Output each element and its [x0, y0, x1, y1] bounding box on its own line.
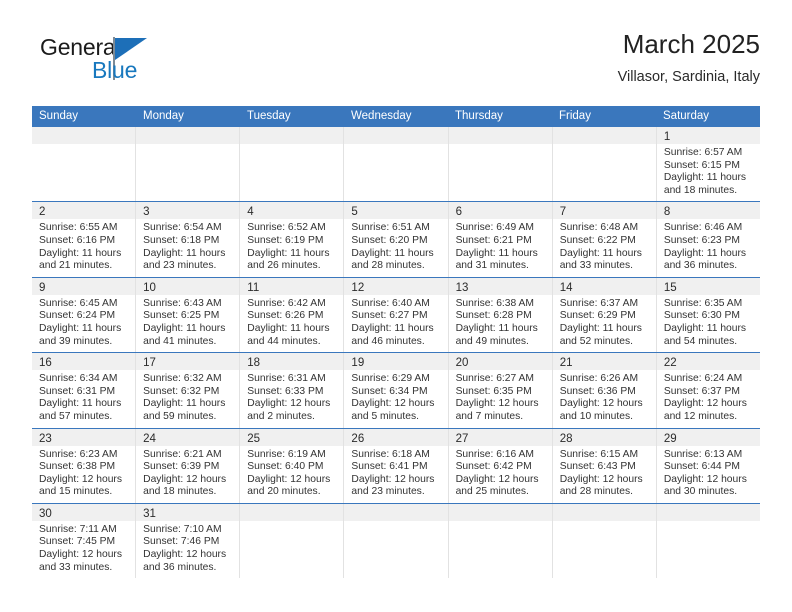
- day-detail-line: Sunset: 6:32 PM: [143, 386, 235, 399]
- day-number: 30: [39, 508, 52, 520]
- day-detail-line: and 26 minutes.: [247, 260, 339, 273]
- day-detail-line: Daylight: 12 hours: [247, 474, 339, 487]
- day-detail-line: Sunrise: 6:40 AM: [351, 298, 443, 311]
- day-detail-line: and 39 minutes.: [39, 336, 131, 349]
- calendar-day-cell[interactable]: 6Sunrise: 6:49 AMSunset: 6:21 PMDaylight…: [449, 202, 553, 276]
- day-detail-line: Sunrise: 7:10 AM: [143, 524, 235, 537]
- day-number-band: [657, 504, 760, 521]
- day-number: 12: [351, 282, 364, 294]
- calendar-day-cell[interactable]: 22Sunrise: 6:24 AMSunset: 6:37 PMDayligh…: [657, 353, 760, 427]
- calendar-day-cell[interactable]: 27Sunrise: 6:16 AMSunset: 6:42 PMDayligh…: [449, 429, 553, 503]
- day-number: 20: [456, 357, 469, 369]
- day-detail-line: Sunrise: 6:34 AM: [39, 373, 131, 386]
- day-details: Sunrise: 6:24 AMSunset: 6:37 PMDaylight:…: [657, 370, 760, 427]
- calendar-cell-empty: [344, 504, 448, 578]
- calendar-week-row: 2Sunrise: 6:55 AMSunset: 6:16 PMDaylight…: [32, 202, 760, 277]
- day-number: 6: [456, 206, 462, 218]
- day-detail-line: Sunrise: 6:48 AM: [560, 222, 652, 235]
- day-number: 22: [664, 357, 677, 369]
- day-detail-line: Sunrise: 6:27 AM: [456, 373, 548, 386]
- calendar-day-cell[interactable]: 14Sunrise: 6:37 AMSunset: 6:29 PMDayligh…: [553, 278, 657, 352]
- day-number-band: 13: [449, 278, 552, 295]
- day-number: 19: [351, 357, 364, 369]
- day-detail-line: Daylight: 11 hours: [39, 323, 131, 336]
- day-details: Sunrise: 6:19 AMSunset: 6:40 PMDaylight:…: [240, 446, 343, 503]
- day-detail-line: Sunset: 6:34 PM: [351, 386, 443, 399]
- day-detail-line: and 33 minutes.: [39, 562, 131, 575]
- day-detail-line: Sunset: 6:43 PM: [560, 461, 652, 474]
- calendar-cell-empty: [553, 127, 657, 201]
- day-number-band: 22: [657, 353, 760, 370]
- day-details: Sunrise: 6:55 AMSunset: 6:16 PMDaylight:…: [32, 219, 135, 276]
- day-detail-line: and 57 minutes.: [39, 411, 131, 424]
- calendar-day-cell[interactable]: 19Sunrise: 6:29 AMSunset: 6:34 PMDayligh…: [344, 353, 448, 427]
- day-detail-line: Sunrise: 6:38 AM: [456, 298, 548, 311]
- day-details: [240, 521, 343, 578]
- day-detail-line: Sunset: 6:44 PM: [664, 461, 756, 474]
- day-details: Sunrise: 6:45 AMSunset: 6:24 PMDaylight:…: [32, 295, 135, 352]
- day-detail-line: Sunrise: 6:42 AM: [247, 298, 339, 311]
- day-number-band: [240, 127, 343, 144]
- day-detail-line: and 31 minutes.: [456, 260, 548, 273]
- calendar-week-row: 23Sunrise: 6:23 AMSunset: 6:38 PMDayligh…: [32, 429, 760, 504]
- day-details: Sunrise: 6:52 AMSunset: 6:19 PMDaylight:…: [240, 219, 343, 276]
- day-detail-line: Sunset: 7:46 PM: [143, 536, 235, 549]
- calendar-day-cell[interactable]: 13Sunrise: 6:38 AMSunset: 6:28 PMDayligh…: [449, 278, 553, 352]
- day-detail-line: Sunset: 6:23 PM: [664, 235, 756, 248]
- day-detail-line: Sunrise: 6:57 AM: [664, 147, 756, 160]
- day-detail-line: and 49 minutes.: [456, 336, 548, 349]
- day-number-band: 30: [32, 504, 135, 521]
- logo-word-blue: Blue: [92, 57, 137, 84]
- calendar-week-row: 1Sunrise: 6:57 AMSunset: 6:15 PMDaylight…: [32, 127, 760, 202]
- day-details: Sunrise: 6:37 AMSunset: 6:29 PMDaylight:…: [553, 295, 656, 352]
- day-detail-line: Sunset: 6:39 PM: [143, 461, 235, 474]
- calendar-day-cell[interactable]: 31Sunrise: 7:10 AMSunset: 7:46 PMDayligh…: [136, 504, 240, 578]
- day-detail-line: Sunrise: 6:43 AM: [143, 298, 235, 311]
- day-number: 25: [247, 433, 260, 445]
- day-detail-line: Daylight: 12 hours: [143, 549, 235, 562]
- weekday-header-row: SundayMondayTuesdayWednesdayThursdayFrid…: [32, 106, 760, 127]
- day-number-band: 29: [657, 429, 760, 446]
- calendar-day-cell[interactable]: 25Sunrise: 6:19 AMSunset: 6:40 PMDayligh…: [240, 429, 344, 503]
- day-details: Sunrise: 6:18 AMSunset: 6:41 PMDaylight:…: [344, 446, 447, 503]
- day-number-band: 3: [136, 202, 239, 219]
- day-detail-line: and 52 minutes.: [560, 336, 652, 349]
- day-number: 2: [39, 206, 45, 218]
- day-detail-line: and 33 minutes.: [560, 260, 652, 273]
- calendar-day-cell[interactable]: 3Sunrise: 6:54 AMSunset: 6:18 PMDaylight…: [136, 202, 240, 276]
- day-detail-line: Sunrise: 6:13 AM: [664, 449, 756, 462]
- day-details: Sunrise: 6:48 AMSunset: 6:22 PMDaylight:…: [553, 219, 656, 276]
- day-number-band: 9: [32, 278, 135, 295]
- page-title: March 2025: [618, 28, 760, 60]
- day-number-band: [344, 504, 447, 521]
- day-number: 5: [351, 206, 357, 218]
- day-number-band: 11: [240, 278, 343, 295]
- day-detail-line: Sunrise: 6:26 AM: [560, 373, 652, 386]
- day-number-band: [449, 127, 552, 144]
- day-number-band: 2: [32, 202, 135, 219]
- day-detail-line: Sunrise: 6:51 AM: [351, 222, 443, 235]
- day-details: [32, 144, 135, 201]
- day-detail-line: Sunset: 6:30 PM: [664, 310, 756, 323]
- day-detail-line: Daylight: 11 hours: [456, 323, 548, 336]
- calendar-weeks: 1Sunrise: 6:57 AMSunset: 6:15 PMDaylight…: [32, 127, 760, 578]
- day-number: 24: [143, 433, 156, 445]
- day-detail-line: Sunset: 6:35 PM: [456, 386, 548, 399]
- day-detail-line: and 44 minutes.: [247, 336, 339, 349]
- day-number: 29: [664, 433, 677, 445]
- day-number: 15: [664, 282, 677, 294]
- calendar-day-cell[interactable]: 21Sunrise: 6:26 AMSunset: 6:36 PMDayligh…: [553, 353, 657, 427]
- day-detail-line: Daylight: 12 hours: [39, 474, 131, 487]
- day-detail-line: Sunrise: 6:49 AM: [456, 222, 548, 235]
- day-detail-line: Daylight: 12 hours: [351, 474, 443, 487]
- day-detail-line: and 18 minutes.: [664, 185, 756, 198]
- day-number: 9: [39, 282, 45, 294]
- calendar-cell-empty: [449, 127, 553, 201]
- day-number: 8: [664, 206, 670, 218]
- day-number-band: 20: [449, 353, 552, 370]
- day-detail-line: Daylight: 11 hours: [247, 248, 339, 261]
- day-number-band: 6: [449, 202, 552, 219]
- day-number: 13: [456, 282, 469, 294]
- day-number: 1: [664, 131, 670, 143]
- calendar-cell-empty: [136, 127, 240, 201]
- day-details: [344, 521, 447, 578]
- day-number-band: 23: [32, 429, 135, 446]
- day-details: [136, 144, 239, 201]
- day-number: 18: [247, 357, 260, 369]
- calendar-cell-empty: [32, 127, 136, 201]
- day-detail-line: and 30 minutes.: [664, 486, 756, 499]
- day-detail-line: and 18 minutes.: [143, 486, 235, 499]
- day-details: Sunrise: 6:26 AMSunset: 6:36 PMDaylight:…: [553, 370, 656, 427]
- day-number-band: 21: [553, 353, 656, 370]
- day-number-band: 4: [240, 202, 343, 219]
- day-number-band: 5: [344, 202, 447, 219]
- calendar-day-cell[interactable]: 15Sunrise: 6:35 AMSunset: 6:30 PMDayligh…: [657, 278, 760, 352]
- day-detail-line: and 23 minutes.: [143, 260, 235, 273]
- day-detail-line: Sunrise: 6:32 AM: [143, 373, 235, 386]
- day-detail-line: Daylight: 11 hours: [456, 248, 548, 261]
- day-number-band: 15: [657, 278, 760, 295]
- day-detail-line: Sunrise: 6:21 AM: [143, 449, 235, 462]
- calendar-day-cell[interactable]: 5Sunrise: 6:51 AMSunset: 6:20 PMDaylight…: [344, 202, 448, 276]
- day-details: Sunrise: 6:34 AMSunset: 6:31 PMDaylight:…: [32, 370, 135, 427]
- day-detail-line: Daylight: 12 hours: [247, 398, 339, 411]
- day-detail-line: Sunset: 6:33 PM: [247, 386, 339, 399]
- weekday-header-thursday: Thursday: [448, 106, 552, 127]
- calendar-day-cell[interactable]: 10Sunrise: 6:43 AMSunset: 6:25 PMDayligh…: [136, 278, 240, 352]
- day-detail-line: Sunrise: 6:52 AM: [247, 222, 339, 235]
- day-detail-line: Sunset: 6:38 PM: [39, 461, 131, 474]
- day-number-band: 16: [32, 353, 135, 370]
- day-detail-line: Sunrise: 6:16 AM: [456, 449, 548, 462]
- day-details: [553, 521, 656, 578]
- day-details: Sunrise: 6:42 AMSunset: 6:26 PMDaylight:…: [240, 295, 343, 352]
- day-details: Sunrise: 6:57 AMSunset: 6:15 PMDaylight:…: [657, 144, 760, 201]
- day-detail-line: Daylight: 11 hours: [560, 248, 652, 261]
- day-detail-line: Sunrise: 6:37 AM: [560, 298, 652, 311]
- day-number-band: 10: [136, 278, 239, 295]
- calendar-day-cell[interactable]: 8Sunrise: 6:46 AMSunset: 6:23 PMDaylight…: [657, 202, 760, 276]
- day-detail-line: Daylight: 11 hours: [664, 172, 756, 185]
- day-detail-line: Daylight: 12 hours: [143, 474, 235, 487]
- day-details: Sunrise: 6:54 AMSunset: 6:18 PMDaylight:…: [136, 219, 239, 276]
- day-detail-line: Daylight: 12 hours: [351, 398, 443, 411]
- day-number: 10: [143, 282, 156, 294]
- calendar-cell-empty: [449, 504, 553, 578]
- day-detail-line: Daylight: 12 hours: [560, 398, 652, 411]
- day-details: Sunrise: 6:13 AMSunset: 6:44 PMDaylight:…: [657, 446, 760, 503]
- day-details: [344, 144, 447, 201]
- day-detail-line: Sunset: 6:36 PM: [560, 386, 652, 399]
- calendar-cell-empty: [240, 127, 344, 201]
- day-detail-line: Daylight: 11 hours: [664, 248, 756, 261]
- day-number-band: [136, 127, 239, 144]
- calendar-day-cell[interactable]: 17Sunrise: 6:32 AMSunset: 6:32 PMDayligh…: [136, 353, 240, 427]
- day-number-band: 19: [344, 353, 447, 370]
- day-number: 31: [143, 508, 156, 520]
- day-detail-line: Sunset: 6:31 PM: [39, 386, 131, 399]
- day-detail-line: and 28 minutes.: [560, 486, 652, 499]
- calendar-week-row: 30Sunrise: 7:11 AMSunset: 7:45 PMDayligh…: [32, 504, 760, 578]
- day-number: 7: [560, 206, 566, 218]
- day-details: Sunrise: 6:16 AMSunset: 6:42 PMDaylight:…: [449, 446, 552, 503]
- day-details: Sunrise: 6:40 AMSunset: 6:27 PMDaylight:…: [344, 295, 447, 352]
- calendar-day-cell[interactable]: 30Sunrise: 7:11 AMSunset: 7:45 PMDayligh…: [32, 504, 136, 578]
- calendar-day-cell[interactable]: 9Sunrise: 6:45 AMSunset: 6:24 PMDaylight…: [32, 278, 136, 352]
- day-details: Sunrise: 6:49 AMSunset: 6:21 PMDaylight:…: [449, 219, 552, 276]
- calendar-day-cell[interactable]: 20Sunrise: 6:27 AMSunset: 6:35 PMDayligh…: [449, 353, 553, 427]
- weekday-header-wednesday: Wednesday: [344, 106, 448, 127]
- day-detail-line: Daylight: 12 hours: [664, 474, 756, 487]
- page-subtitle: Villasor, Sardinia, Italy: [618, 68, 760, 86]
- day-number-band: 1: [657, 127, 760, 144]
- day-detail-line: Daylight: 11 hours: [39, 398, 131, 411]
- day-detail-line: Sunrise: 6:18 AM: [351, 449, 443, 462]
- calendar-week-row: 9Sunrise: 6:45 AMSunset: 6:24 PMDaylight…: [32, 278, 760, 353]
- day-number-band: 28: [553, 429, 656, 446]
- calendar-day-cell[interactable]: 12Sunrise: 6:40 AMSunset: 6:27 PMDayligh…: [344, 278, 448, 352]
- day-detail-line: and 36 minutes.: [664, 260, 756, 273]
- day-details: [449, 144, 552, 201]
- day-detail-line: Daylight: 11 hours: [560, 323, 652, 336]
- day-detail-line: Daylight: 12 hours: [664, 398, 756, 411]
- day-detail-line: Sunset: 6:29 PM: [560, 310, 652, 323]
- day-detail-line: and 23 minutes.: [351, 486, 443, 499]
- calendar-cell-empty: [657, 504, 760, 578]
- day-detail-line: Sunset: 6:20 PM: [351, 235, 443, 248]
- day-number-band: 18: [240, 353, 343, 370]
- day-detail-line: Sunset: 6:16 PM: [39, 235, 131, 248]
- day-number-band: [553, 127, 656, 144]
- day-detail-line: Sunrise: 6:35 AM: [664, 298, 756, 311]
- day-detail-line: Sunset: 6:21 PM: [456, 235, 548, 248]
- day-detail-line: Daylight: 12 hours: [456, 398, 548, 411]
- day-detail-line: Sunset: 6:19 PM: [247, 235, 339, 248]
- calendar-day-cell[interactable]: 2Sunrise: 6:55 AMSunset: 6:16 PMDaylight…: [32, 202, 136, 276]
- day-detail-line: Sunset: 7:45 PM: [39, 536, 131, 549]
- day-detail-line: Sunset: 6:26 PM: [247, 310, 339, 323]
- calendar-day-cell[interactable]: 26Sunrise: 6:18 AMSunset: 6:41 PMDayligh…: [344, 429, 448, 503]
- day-details: Sunrise: 6:23 AMSunset: 6:38 PMDaylight:…: [32, 446, 135, 503]
- day-details: Sunrise: 6:21 AMSunset: 6:39 PMDaylight:…: [136, 446, 239, 503]
- day-detail-line: Sunset: 6:24 PM: [39, 310, 131, 323]
- day-detail-line: and 12 minutes.: [664, 411, 756, 424]
- weekday-header-friday: Friday: [552, 106, 656, 127]
- day-detail-line: Sunrise: 6:45 AM: [39, 298, 131, 311]
- day-detail-line: Daylight: 11 hours: [247, 323, 339, 336]
- day-number: 3: [143, 206, 149, 218]
- day-number-band: 27: [449, 429, 552, 446]
- day-detail-line: Sunset: 6:28 PM: [456, 310, 548, 323]
- title-block: March 2025 Villasor, Sardinia, Italy: [618, 28, 760, 86]
- day-number: 14: [560, 282, 573, 294]
- day-number: 23: [39, 433, 52, 445]
- calendar-grid: SundayMondayTuesdayWednesdayThursdayFrid…: [32, 106, 760, 578]
- calendar-day-cell[interactable]: 18Sunrise: 6:31 AMSunset: 6:33 PMDayligh…: [240, 353, 344, 427]
- day-detail-line: Sunrise: 6:54 AM: [143, 222, 235, 235]
- calendar-day-cell[interactable]: 16Sunrise: 6:34 AMSunset: 6:31 PMDayligh…: [32, 353, 136, 427]
- day-number: 17: [143, 357, 156, 369]
- day-number-band: [32, 127, 135, 144]
- calendar-day-cell[interactable]: 23Sunrise: 6:23 AMSunset: 6:38 PMDayligh…: [32, 429, 136, 503]
- day-number-band: 17: [136, 353, 239, 370]
- day-detail-line: Sunset: 6:40 PM: [247, 461, 339, 474]
- day-number-band: 14: [553, 278, 656, 295]
- day-detail-line: Daylight: 11 hours: [39, 248, 131, 261]
- day-number-band: 24: [136, 429, 239, 446]
- day-detail-line: Sunrise: 6:19 AM: [247, 449, 339, 462]
- day-detail-line: Sunset: 6:22 PM: [560, 235, 652, 248]
- day-detail-line: and 10 minutes.: [560, 411, 652, 424]
- day-detail-line: Daylight: 11 hours: [664, 323, 756, 336]
- day-detail-line: and 21 minutes.: [39, 260, 131, 273]
- day-number-band: [240, 504, 343, 521]
- day-number: 4: [247, 206, 253, 218]
- day-details: Sunrise: 7:10 AMSunset: 7:46 PMDaylight:…: [136, 521, 239, 578]
- day-detail-line: Sunset: 6:41 PM: [351, 461, 443, 474]
- day-detail-line: Sunrise: 6:46 AM: [664, 222, 756, 235]
- day-detail-line: and 36 minutes.: [143, 562, 235, 575]
- calendar-day-cell[interactable]: 11Sunrise: 6:42 AMSunset: 6:26 PMDayligh…: [240, 278, 344, 352]
- calendar-day-cell[interactable]: 28Sunrise: 6:15 AMSunset: 6:43 PMDayligh…: [553, 429, 657, 503]
- day-number-band: [449, 504, 552, 521]
- day-details: Sunrise: 6:46 AMSunset: 6:23 PMDaylight:…: [657, 219, 760, 276]
- day-detail-line: Sunset: 6:27 PM: [351, 310, 443, 323]
- day-detail-line: Sunrise: 6:15 AM: [560, 449, 652, 462]
- day-detail-line: Sunrise: 6:23 AM: [39, 449, 131, 462]
- calendar-cell-empty: [553, 504, 657, 578]
- day-details: Sunrise: 6:29 AMSunset: 6:34 PMDaylight:…: [344, 370, 447, 427]
- day-details: [240, 144, 343, 201]
- day-number-band: 12: [344, 278, 447, 295]
- day-details: Sunrise: 6:51 AMSunset: 6:20 PMDaylight:…: [344, 219, 447, 276]
- day-detail-line: Sunrise: 7:11 AM: [39, 524, 131, 537]
- day-detail-line: Sunrise: 6:24 AM: [664, 373, 756, 386]
- day-number: 26: [351, 433, 364, 445]
- day-detail-line: and 5 minutes.: [351, 411, 443, 424]
- calendar-page: General Blue March 2025 Villasor, Sardin…: [0, 0, 792, 612]
- day-detail-line: Daylight: 11 hours: [143, 248, 235, 261]
- day-details: Sunrise: 6:27 AMSunset: 6:35 PMDaylight:…: [449, 370, 552, 427]
- day-detail-line: Daylight: 11 hours: [143, 398, 235, 411]
- day-number-band: 7: [553, 202, 656, 219]
- day-details: Sunrise: 6:38 AMSunset: 6:28 PMDaylight:…: [449, 295, 552, 352]
- weekday-header-saturday: Saturday: [656, 106, 760, 127]
- day-detail-line: and 54 minutes.: [664, 336, 756, 349]
- day-detail-line: Daylight: 12 hours: [560, 474, 652, 487]
- day-detail-line: Daylight: 12 hours: [39, 549, 131, 562]
- page-header: General Blue March 2025 Villasor, Sardin…: [32, 28, 760, 100]
- day-detail-line: Sunrise: 6:31 AM: [247, 373, 339, 386]
- day-details: Sunrise: 6:31 AMSunset: 6:33 PMDaylight:…: [240, 370, 343, 427]
- calendar-day-cell[interactable]: 4Sunrise: 6:52 AMSunset: 6:19 PMDaylight…: [240, 202, 344, 276]
- day-detail-line: Sunrise: 6:55 AM: [39, 222, 131, 235]
- day-detail-line: Daylight: 12 hours: [456, 474, 548, 487]
- day-detail-line: Sunset: 6:42 PM: [456, 461, 548, 474]
- day-detail-line: and 25 minutes.: [456, 486, 548, 499]
- day-detail-line: Sunset: 6:15 PM: [664, 160, 756, 173]
- day-number: 27: [456, 433, 469, 445]
- weekday-header-tuesday: Tuesday: [240, 106, 344, 127]
- day-number: 28: [560, 433, 573, 445]
- day-details: [553, 144, 656, 201]
- calendar-day-cell[interactable]: 29Sunrise: 6:13 AMSunset: 6:44 PMDayligh…: [657, 429, 760, 503]
- day-detail-line: Daylight: 11 hours: [143, 323, 235, 336]
- day-number-band: 31: [136, 504, 239, 521]
- day-details: [449, 521, 552, 578]
- calendar-week-row: 16Sunrise: 6:34 AMSunset: 6:31 PMDayligh…: [32, 353, 760, 428]
- calendar-cell-empty: [344, 127, 448, 201]
- day-detail-line: and 28 minutes.: [351, 260, 443, 273]
- day-detail-line: and 59 minutes.: [143, 411, 235, 424]
- day-number-band: [553, 504, 656, 521]
- day-number-band: [344, 127, 447, 144]
- day-detail-line: Sunset: 6:37 PM: [664, 386, 756, 399]
- day-detail-line: Sunset: 6:18 PM: [143, 235, 235, 248]
- day-detail-line: Sunrise: 6:29 AM: [351, 373, 443, 386]
- day-detail-line: Daylight: 11 hours: [351, 323, 443, 336]
- day-detail-line: and 7 minutes.: [456, 411, 548, 424]
- day-detail-line: and 41 minutes.: [143, 336, 235, 349]
- day-details: Sunrise: 7:11 AMSunset: 7:45 PMDaylight:…: [32, 521, 135, 578]
- day-details: Sunrise: 6:15 AMSunset: 6:43 PMDaylight:…: [553, 446, 656, 503]
- day-detail-line: and 15 minutes.: [39, 486, 131, 499]
- day-details: [657, 521, 760, 578]
- day-details: Sunrise: 6:32 AMSunset: 6:32 PMDaylight:…: [136, 370, 239, 427]
- day-detail-line: Daylight: 11 hours: [351, 248, 443, 261]
- calendar-day-cell[interactable]: 1Sunrise: 6:57 AMSunset: 6:15 PMDaylight…: [657, 127, 760, 201]
- calendar-day-cell[interactable]: 24Sunrise: 6:21 AMSunset: 6:39 PMDayligh…: [136, 429, 240, 503]
- day-number: 11: [247, 282, 259, 294]
- weekday-header-monday: Monday: [136, 106, 240, 127]
- calendar-cell-empty: [240, 504, 344, 578]
- day-detail-line: and 46 minutes.: [351, 336, 443, 349]
- day-number: 21: [560, 357, 573, 369]
- day-number-band: 8: [657, 202, 760, 219]
- weekday-header-sunday: Sunday: [32, 106, 136, 127]
- general-blue-logo[interactable]: General Blue: [40, 34, 190, 92]
- day-details: Sunrise: 6:35 AMSunset: 6:30 PMDaylight:…: [657, 295, 760, 352]
- day-detail-line: Sunset: 6:25 PM: [143, 310, 235, 323]
- day-detail-line: and 20 minutes.: [247, 486, 339, 499]
- day-number: 16: [39, 357, 52, 369]
- calendar-day-cell[interactable]: 7Sunrise: 6:48 AMSunset: 6:22 PMDaylight…: [553, 202, 657, 276]
